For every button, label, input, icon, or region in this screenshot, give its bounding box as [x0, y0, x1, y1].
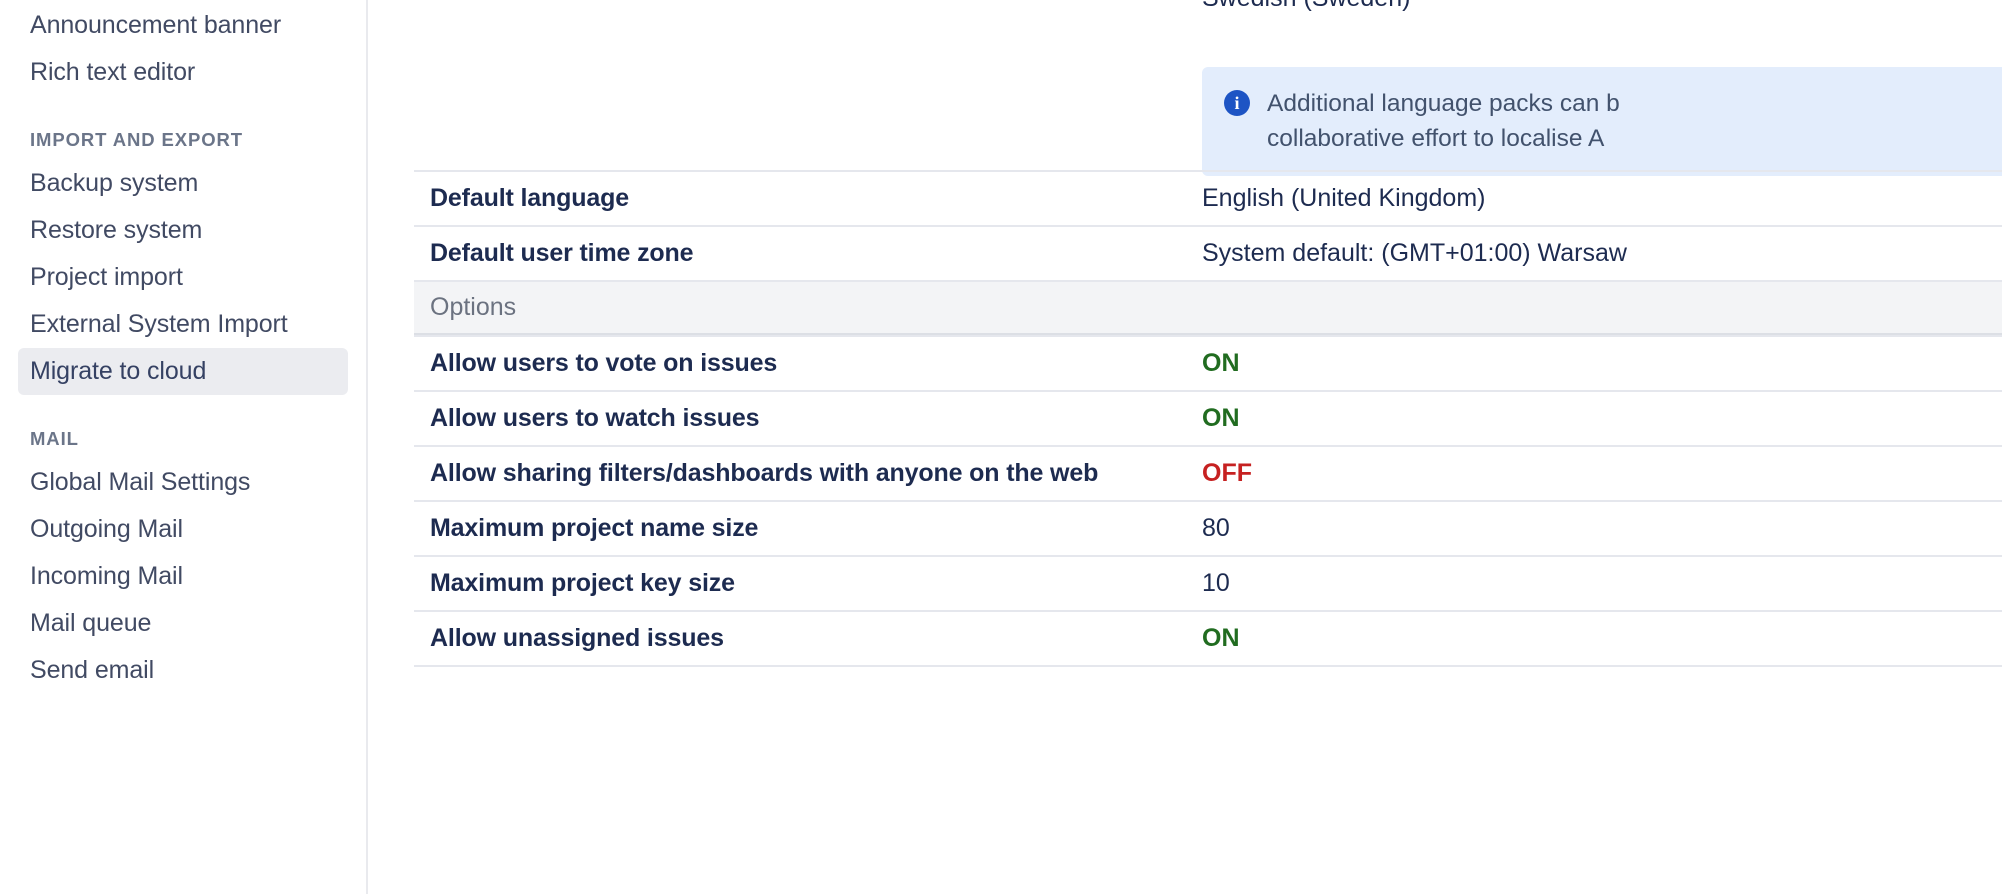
row-value: English (United Kingdom)	[1202, 184, 2002, 213]
sidebar-item-mail-queue[interactable]: Mail queue	[18, 600, 348, 647]
language-packs-info-banner: i Additional language packs can bcollabo…	[1202, 67, 2002, 176]
sidebar-nav-list: Look and feel Announcement banner Rich t…	[0, 0, 366, 694]
sidebar-item-global-mail-settings[interactable]: Global Mail Settings	[18, 459, 348, 506]
row-label: Allow users to vote on issues	[414, 349, 1202, 378]
info-banner-line-1: Additional language packs can b	[1267, 90, 1620, 117]
table-row[interactable]: Allow users to watch issues ON	[414, 390, 2002, 445]
sidebar-item-send-email[interactable]: Send email	[18, 647, 348, 694]
row-label: Allow sharing filters/dashboards with an…	[414, 459, 1202, 488]
table-row[interactable]: Maximum project name size 80	[414, 500, 2002, 555]
sidebar-item-external-system-import[interactable]: External System Import	[18, 301, 348, 348]
admin-settings-screen: Look and feel Announcement banner Rich t…	[0, 0, 2002, 894]
row-value: 80	[1202, 514, 2002, 543]
sidebar-item-backup-system[interactable]: Backup system	[18, 160, 348, 207]
row-label: Allow users to watch issues	[414, 404, 1202, 433]
row-label: Allow unassigned issues	[414, 624, 1202, 653]
table-row[interactable]: Allow sharing filters/dashboards with an…	[414, 445, 2002, 500]
sidebar-heading-mail: MAIL	[18, 425, 348, 453]
main-content: Swedish (Sweden) i Additional language p…	[368, 0, 2002, 894]
table-row[interactable]: Allow unassigned issues ON	[414, 610, 2002, 665]
sidebar-item-migrate-to-cloud[interactable]: Migrate to cloud	[18, 348, 348, 395]
row-label: Default language	[414, 184, 1202, 213]
sidebar-item-rich-text-editor[interactable]: Rich text editor	[18, 49, 348, 96]
row-value: System default: (GMT+01:00) Warsaw	[1202, 239, 2002, 268]
table-row[interactable]: Allow users to vote on issues ON	[414, 335, 2002, 390]
sidebar-heading-import-and-export: IMPORT AND EXPORT	[18, 126, 348, 154]
row-value: 10	[1202, 569, 2002, 598]
table-row[interactable]: Default user time zone System default: (…	[414, 225, 2002, 280]
settings-panel: Swedish (Sweden) i Additional language p…	[368, 0, 2002, 894]
info-banner-text: Additional language packs can bcollabora…	[1267, 86, 1620, 156]
row-value-status: ON	[1202, 349, 2002, 378]
row-value-status: ON	[1202, 624, 2002, 653]
info-banner-line-2: collaborative effort to localise A	[1267, 125, 1604, 152]
section-header-options: Options	[414, 280, 2002, 335]
info-icon: i	[1224, 90, 1250, 116]
sidebar-item-outgoing-mail[interactable]: Outgoing Mail	[18, 506, 348, 553]
partial-row-languages: Swedish (Sweden) i Additional language p…	[414, 0, 2002, 170]
section-title: Options	[414, 293, 516, 322]
row-value-status: OFF	[1202, 459, 2002, 488]
sidebar-item-announcement-banner[interactable]: Announcement banner	[18, 2, 348, 49]
table-row-bottom-divider	[414, 665, 2002, 671]
row-label: Maximum project key size	[414, 569, 1202, 598]
partial-row-value: Swedish (Sweden)	[1202, 0, 1410, 13]
table-row[interactable]: Default language English (United Kingdom…	[414, 170, 2002, 225]
sidebar-item-incoming-mail[interactable]: Incoming Mail	[18, 553, 348, 600]
row-value-status: ON	[1202, 404, 2002, 433]
row-label: Maximum project name size	[414, 514, 1202, 543]
admin-sidebar: Look and feel Announcement banner Rich t…	[0, 0, 368, 894]
table-row[interactable]: Maximum project key size 10	[414, 555, 2002, 610]
sidebar-item-project-import[interactable]: Project import	[18, 254, 348, 301]
row-label: Default user time zone	[414, 239, 1202, 268]
sidebar-item-restore-system[interactable]: Restore system	[18, 207, 348, 254]
